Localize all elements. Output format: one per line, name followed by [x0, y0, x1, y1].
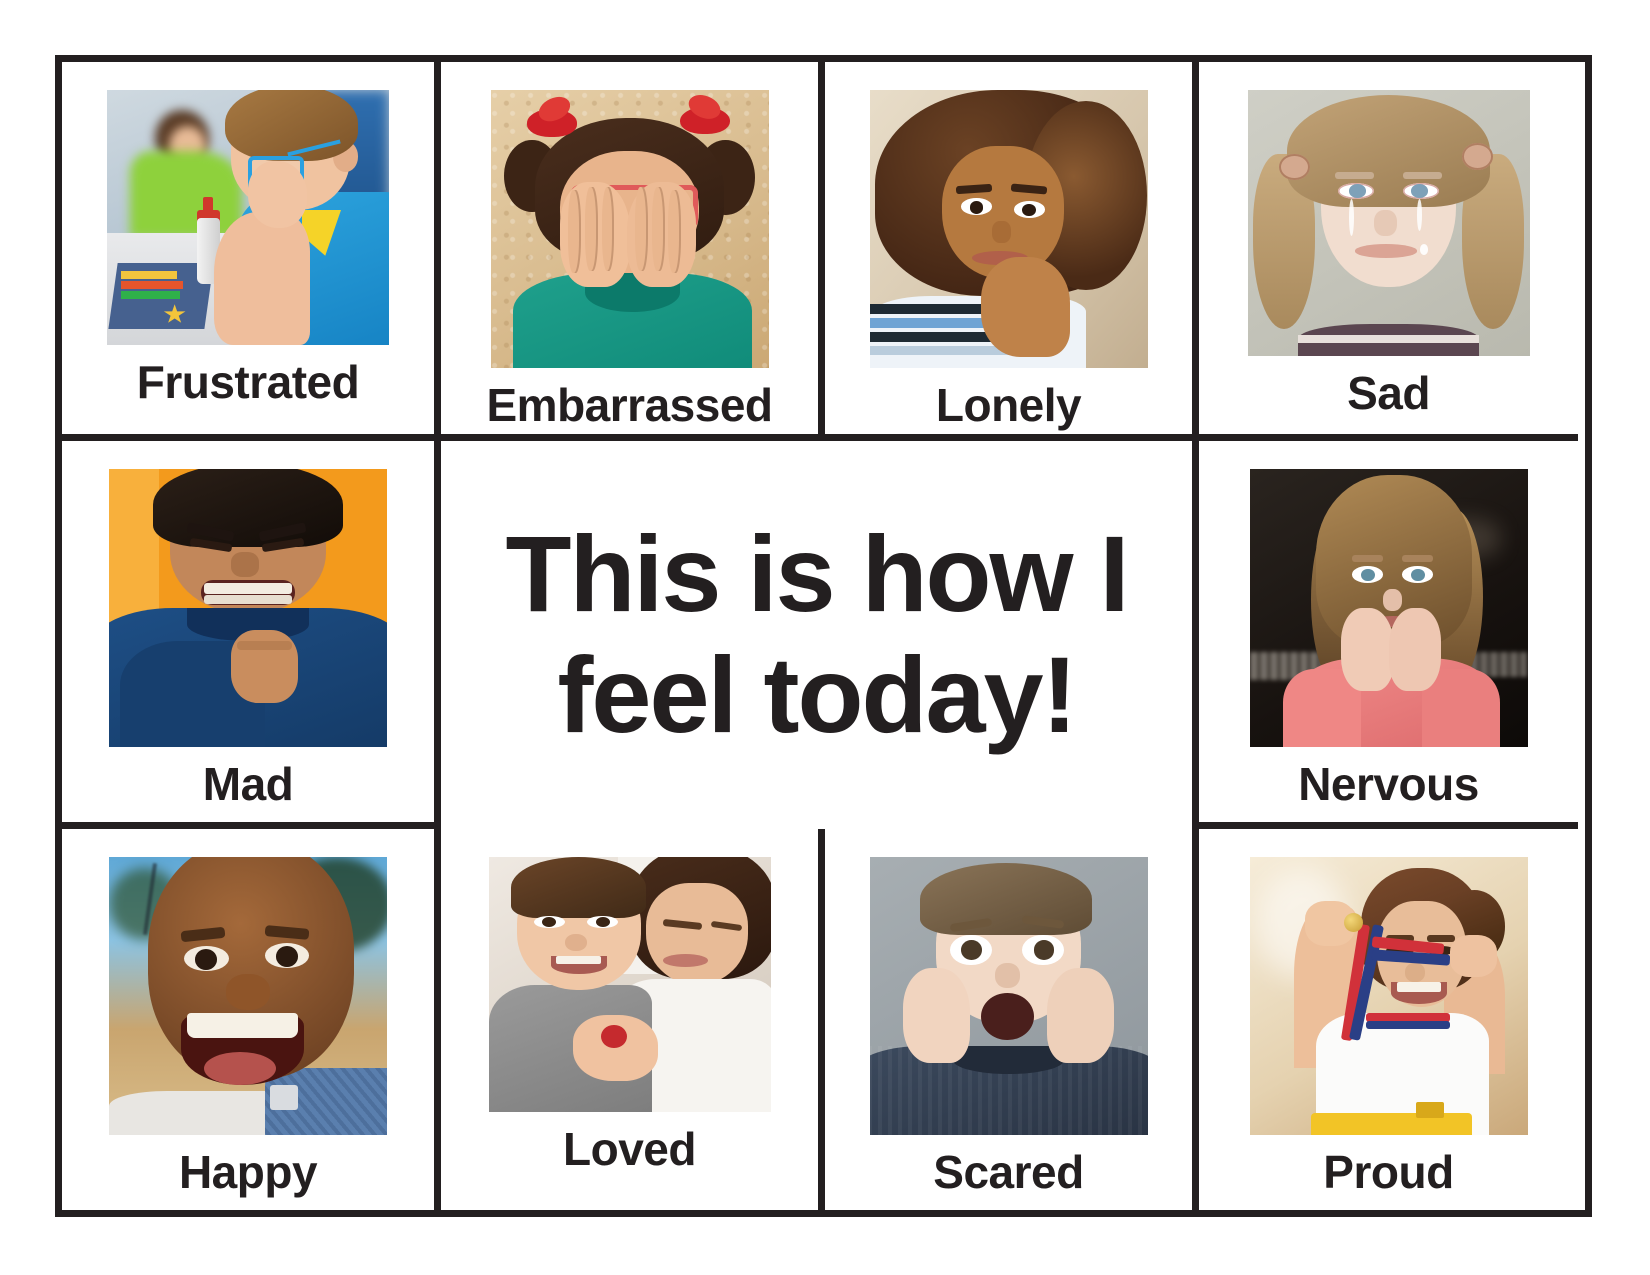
card-frustrated[interactable]: Frustrated — [62, 62, 441, 441]
title-panel: This is how I feel today! — [441, 441, 1199, 829]
embarrassed-photo — [491, 90, 769, 368]
nervous-photo — [1250, 469, 1528, 747]
card-label-mad: Mad — [203, 761, 294, 807]
card-label-proud: Proud — [1323, 1149, 1453, 1195]
feelings-chart-page: Frustrated — [0, 0, 1650, 1275]
feelings-grid: Frustrated — [55, 55, 1592, 1217]
card-label-sad: Sad — [1347, 370, 1430, 416]
title-line-1: This is how I — [505, 513, 1127, 634]
card-happy[interactable]: Happy — [62, 829, 441, 1210]
loved-photo — [489, 857, 771, 1112]
lonely-photo — [870, 90, 1148, 368]
proud-photo — [1250, 857, 1528, 1135]
card-nervous[interactable]: Nervous — [1199, 441, 1578, 829]
mad-photo — [109, 469, 387, 747]
card-proud[interactable]: Proud — [1199, 829, 1578, 1210]
card-label-happy: Happy — [179, 1149, 317, 1195]
happy-photo — [109, 857, 387, 1135]
card-mad[interactable]: Mad — [62, 441, 441, 829]
card-lonely[interactable]: Lonely — [825, 62, 1199, 441]
scared-photo — [870, 857, 1148, 1135]
card-embarrassed[interactable]: Embarrassed — [441, 62, 825, 441]
page-title: This is how I feel today! — [505, 514, 1127, 756]
sad-photo — [1248, 90, 1530, 356]
card-label-frustrated: Frustrated — [137, 359, 359, 405]
title-line-2: feel today! — [557, 634, 1075, 755]
card-scared[interactable]: Scared — [825, 829, 1199, 1210]
card-label-nervous: Nervous — [1298, 761, 1479, 807]
frustrated-photo — [107, 90, 389, 345]
card-loved[interactable]: Loved — [441, 829, 825, 1210]
card-label-loved: Loved — [563, 1126, 696, 1172]
card-sad[interactable]: Sad — [1199, 62, 1578, 441]
card-label-lonely: Lonely — [936, 382, 1081, 428]
card-label-scared: Scared — [933, 1149, 1083, 1195]
card-label-embarrassed: Embarrassed — [487, 382, 773, 428]
